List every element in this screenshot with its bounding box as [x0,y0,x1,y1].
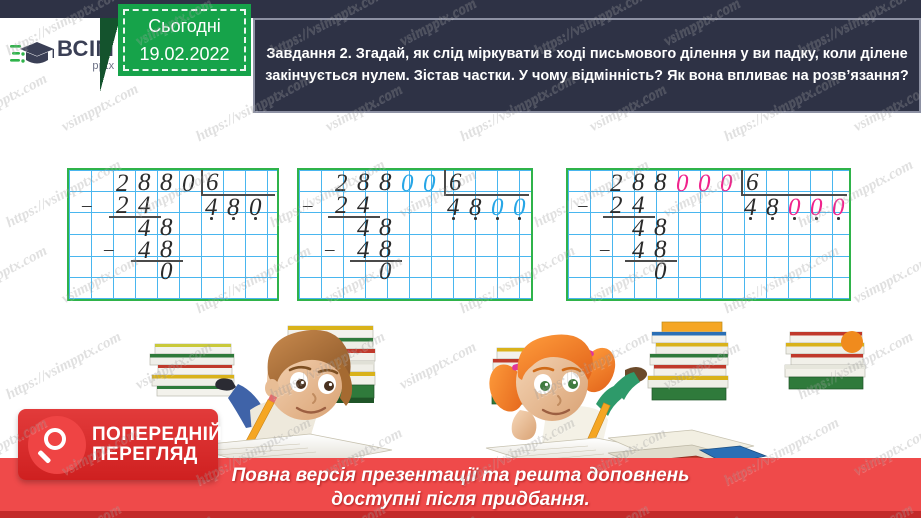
book-stack-right-2 [648,322,728,400]
watermark-text: https://vsimpptx.com [0,243,50,318]
digit: 0 [379,259,392,284]
sub-rule [131,260,183,262]
task-text: Завдання 2. Згадай, як слід міркувати в … [265,44,909,86]
grid-lines-1 [69,170,277,299]
digit: 2 [116,193,129,218]
minus-sign: – [104,240,114,259]
dot-mark [815,217,818,220]
task-panel: Завдання 2. Згадай, як слід міркувати в … [253,18,921,113]
book-stack-far-right [785,331,865,389]
digit: 8 [654,170,667,195]
digit: 2 [335,193,348,218]
sub-rule [603,216,655,218]
digit: 8 [160,170,173,195]
dot-mark [771,217,774,220]
minus-sign: – [578,196,588,215]
dot-mark [474,217,477,220]
divider-vertical [444,170,446,194]
digit-zero-highlight: 0 [720,171,733,196]
digit: 0 [160,259,173,284]
digit: 0 [182,171,195,196]
dot-mark [210,217,213,220]
grid-lines-2 [299,170,531,299]
watermark-text: vsimpptx.com [851,253,921,308]
sub-rule [109,216,161,218]
magnifier-icon [28,416,86,474]
digit: 6 [746,170,759,195]
divider-vertical [741,170,743,194]
date-label: Сьогодні [148,16,221,37]
graduation-cap-icon [10,38,54,72]
dot-mark [518,217,521,220]
digit-zero-highlight: 0 [401,171,414,196]
digit-zero-highlight: 0 [676,171,689,196]
divider-vertical [201,170,203,194]
dot-mark [254,217,257,220]
minus-sign: – [325,240,335,259]
digit: 2 [610,193,623,218]
dot-mark [793,217,796,220]
digit: 6 [206,170,219,195]
preview-button[interactable]: ПОПЕРЕДНІЙ ПЕРЕГЛЯД [18,409,218,480]
badge-bevel [100,18,120,92]
sub-rule [625,260,677,262]
dot-mark [496,217,499,220]
date-badge: Сьогодні 19.02.2022 [118,4,251,76]
banner-line-2: доступні після придбання. [331,488,590,512]
banner-line-1: Повна версія презентації та решта доповн… [232,464,690,488]
preview-label-1: ПОПЕРЕДНІЙ [92,425,222,445]
digit: 0 [654,259,667,284]
division-box-2: 2 8 8 0 0 6 4 8 0 0 – 2 4 4 8 – 4 8 0 [297,168,533,301]
dot-mark [749,217,752,220]
date-value: 19.02.2022 [139,44,229,65]
sub-rule [350,260,402,262]
digit: 8 [379,170,392,195]
preview-label-2: ПЕРЕГЛЯД [92,445,222,465]
dot-mark [837,217,840,220]
sub-rule [328,216,380,218]
digit: 6 [449,170,462,195]
division-box-3: 2 8 8 0 0 0 6 4 8 0 0 0 – 2 4 4 8 – 4 8 … [566,168,851,301]
division-box-1: 2 8 8 0 6 4 8 0 – 2 4 4 8 – 4 8 0 [67,168,279,301]
slide-canvas: 2 8 8 0 6 4 8 0 – 2 4 4 8 – 4 8 0 [0,0,921,518]
dot-mark [452,217,455,220]
dot-mark [232,217,235,220]
minus-sign: – [82,196,92,215]
digit-zero-highlight: 0 [423,171,436,196]
digit-zero-highlight: 0 [698,171,711,196]
minus-sign: – [303,196,313,215]
minus-sign: – [600,240,610,259]
